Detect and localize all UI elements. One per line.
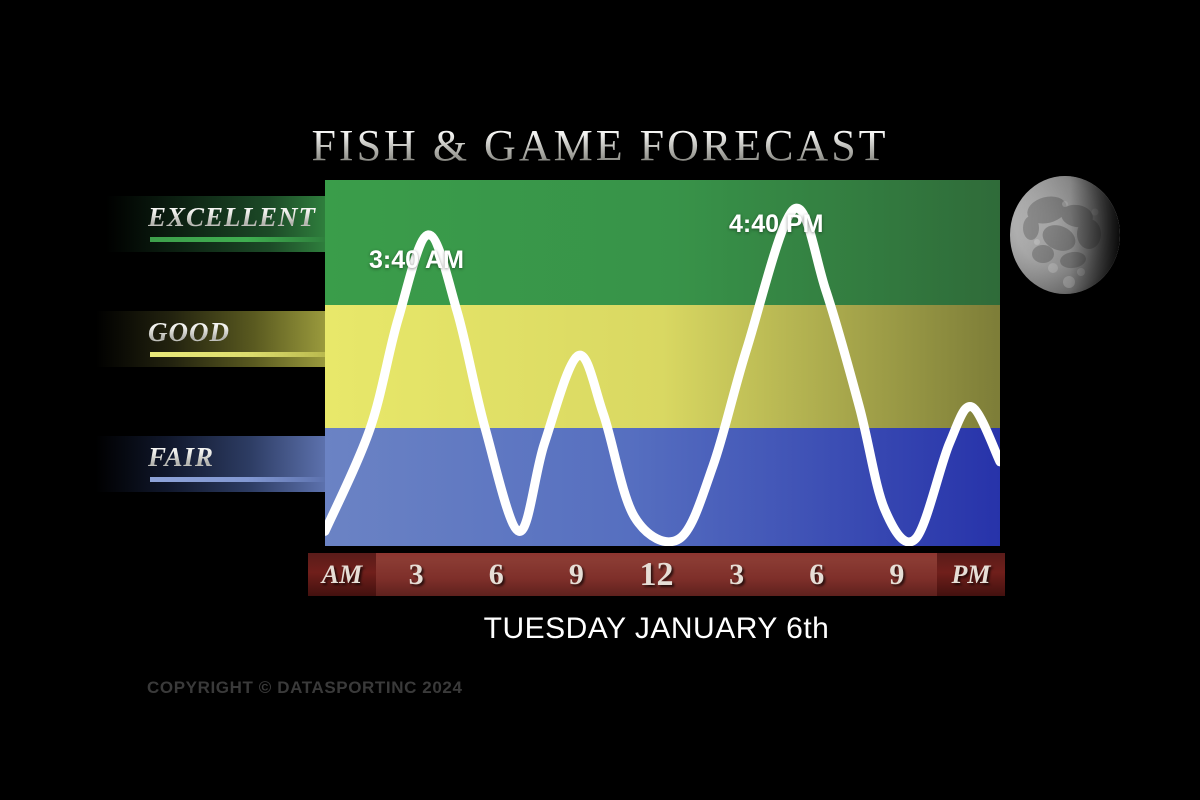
time-axis: AM36912369PM (308, 553, 1005, 596)
peak-label-afternoon: 4:40 PM (729, 210, 823, 239)
legend-rule-fair (150, 477, 326, 482)
legend-item-excellent: EXCELLENT (70, 196, 326, 252)
axis-tick-3-5: 3 (697, 560, 777, 590)
legend-item-good: GOOD (70, 311, 326, 367)
legend-label-fair: FAIR (148, 442, 214, 473)
axis-tick-3-1: 3 (376, 560, 456, 590)
moon-phase-icon (1003, 168, 1128, 303)
axis-tick-am-0: AM (308, 553, 376, 596)
legend-item-fair: FAIR (70, 436, 326, 492)
page-title: FISH & GAME FORECAST (0, 120, 1200, 171)
fish-game-forecast-panel: FISH & GAME FORECAST EXCELLENT GOOD FAIR… (0, 0, 1200, 800)
axis-tick-pm-8: PM (937, 553, 1005, 596)
copyright-text: COPYRIGHT © DATASPORTINC 2024 (147, 678, 463, 698)
axis-tick-6-2: 6 (456, 560, 536, 590)
legend-rule-excellent (150, 237, 326, 242)
legend-label-good: GOOD (148, 317, 230, 348)
axis-tick-12-4: 12 (616, 558, 696, 592)
axis-tick-9-3: 9 (536, 560, 616, 590)
axis-tick-9-7: 9 (857, 560, 937, 590)
peak-label-morning: 3:40 AM (369, 246, 464, 275)
axis-tick-6-6: 6 (777, 560, 857, 590)
forecast-date: TUESDAY JANUARY 6th (308, 612, 1005, 646)
legend-label-excellent: EXCELLENT (148, 202, 316, 233)
legend-rule-good (150, 352, 326, 357)
activity-curve (325, 180, 1000, 546)
activity-chart: 3:40 AM 4:40 PM (325, 180, 1000, 546)
